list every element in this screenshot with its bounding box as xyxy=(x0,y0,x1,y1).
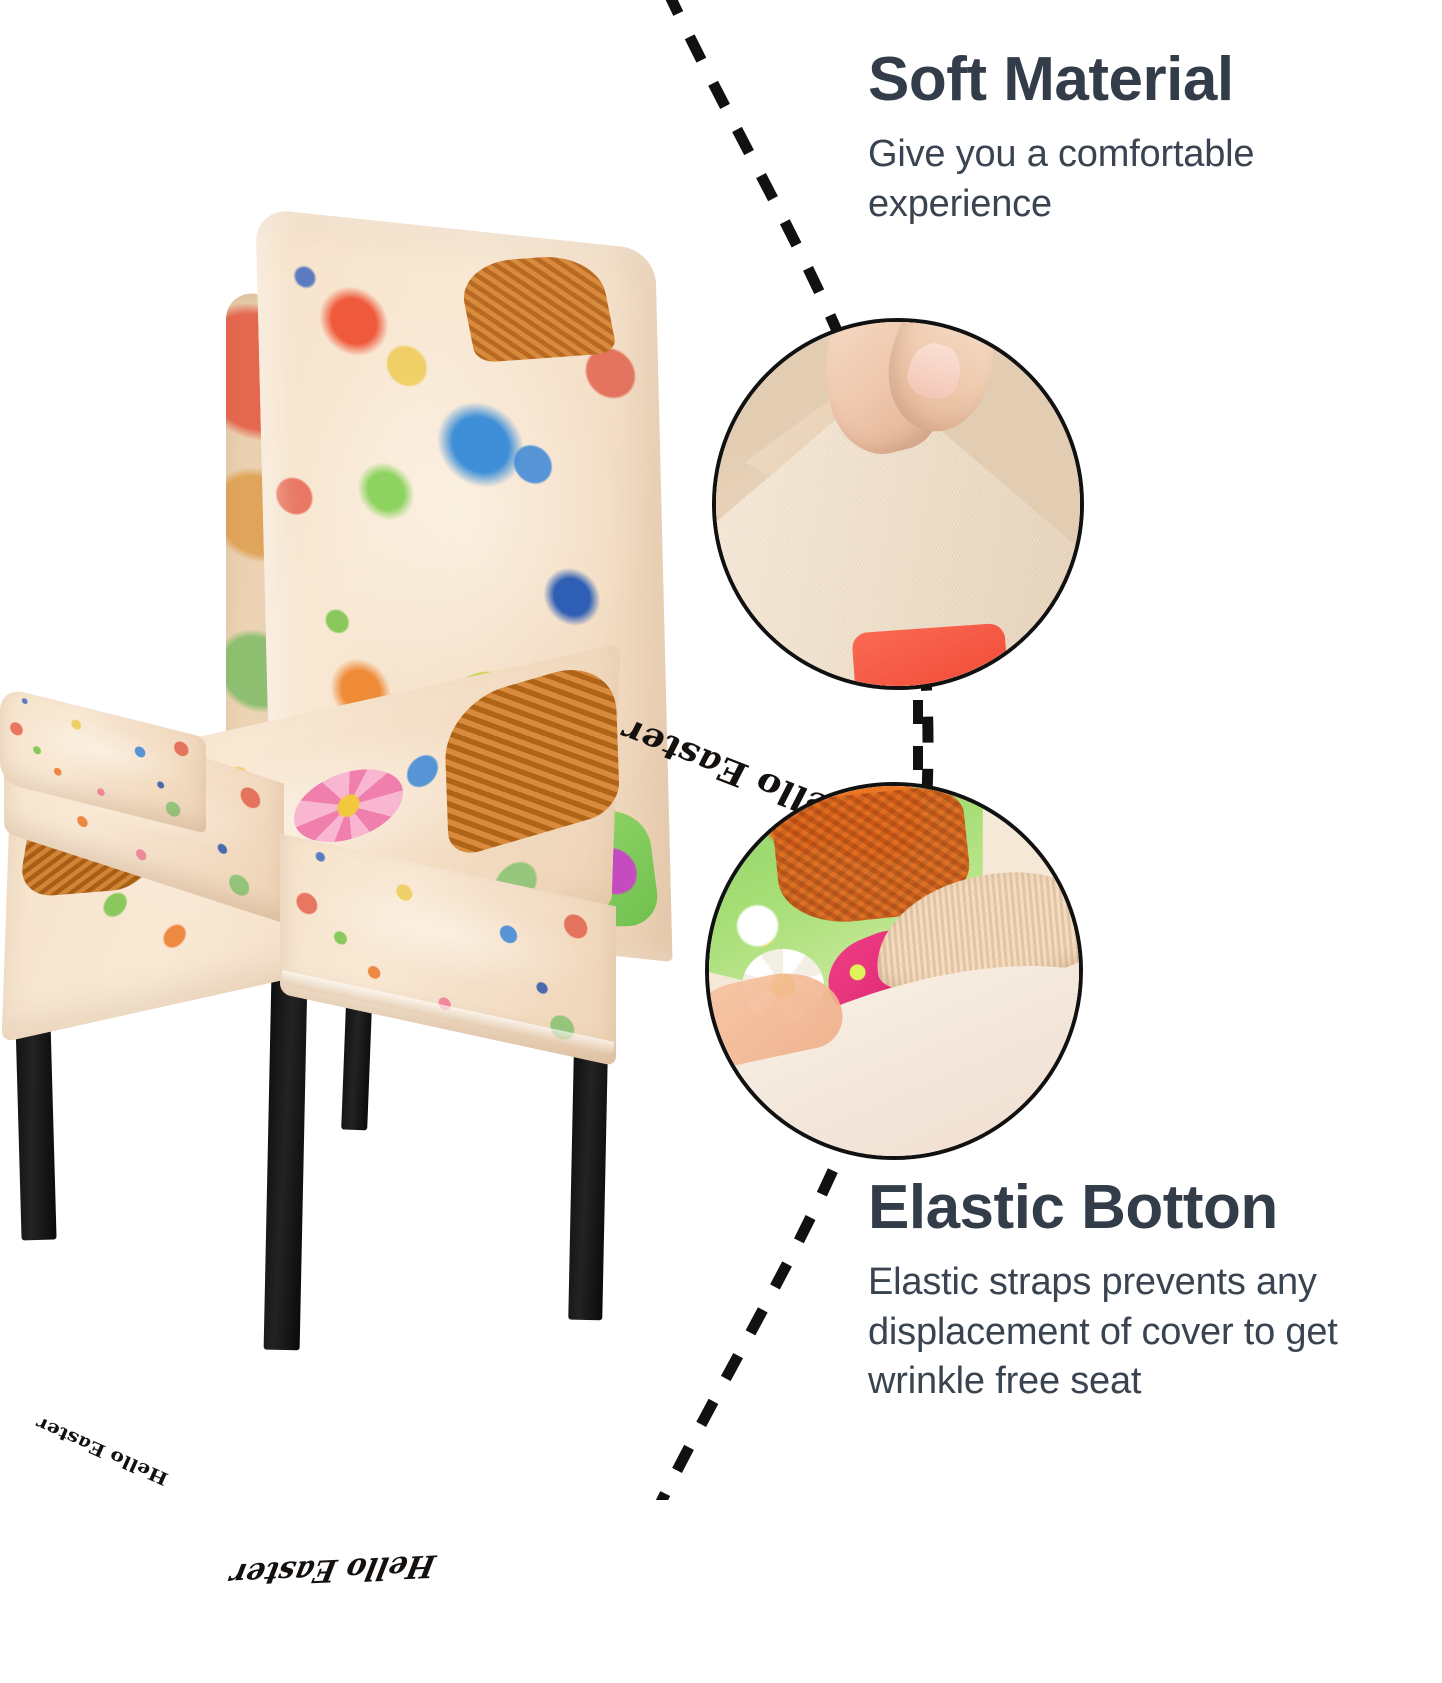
detail-circle-soft-material xyxy=(712,318,1084,690)
motif-seat-basket xyxy=(444,655,620,860)
motif-pink-daisy xyxy=(293,759,405,852)
feature-heading-soft-material: Soft Material xyxy=(868,48,1408,112)
print-script-arm: Hello Easter xyxy=(35,1412,169,1490)
feature-body-soft-material: Give you a comfortable experience xyxy=(868,130,1408,229)
feature-body-elastic-bottom: Elastic straps prevents any displacement… xyxy=(868,1258,1436,1406)
feature-block-soft-material: Soft Material Give you a comfortable exp… xyxy=(868,48,1408,229)
detail-circle-elastic-bottom xyxy=(705,782,1083,1160)
print-script-seat: Hello Easter xyxy=(227,1547,438,1592)
feature-block-elastic-bottom: Elastic Botton Elastic straps prevents a… xyxy=(868,1176,1436,1407)
infographic-canvas: Hello Easter Hello Easter Hello Easter xyxy=(0,0,1442,1500)
feature-heading-elastic-bottom: Elastic Botton xyxy=(868,1176,1436,1240)
motif-blue-egg xyxy=(435,397,525,492)
motif-green-butterfly xyxy=(350,458,422,526)
motif-blue-butterfly xyxy=(539,560,604,632)
chair-product-image: Hello Easter Hello Easter Hello Easter xyxy=(0,230,700,1360)
motif-basket xyxy=(457,254,618,364)
motif-red-bow xyxy=(306,278,402,365)
